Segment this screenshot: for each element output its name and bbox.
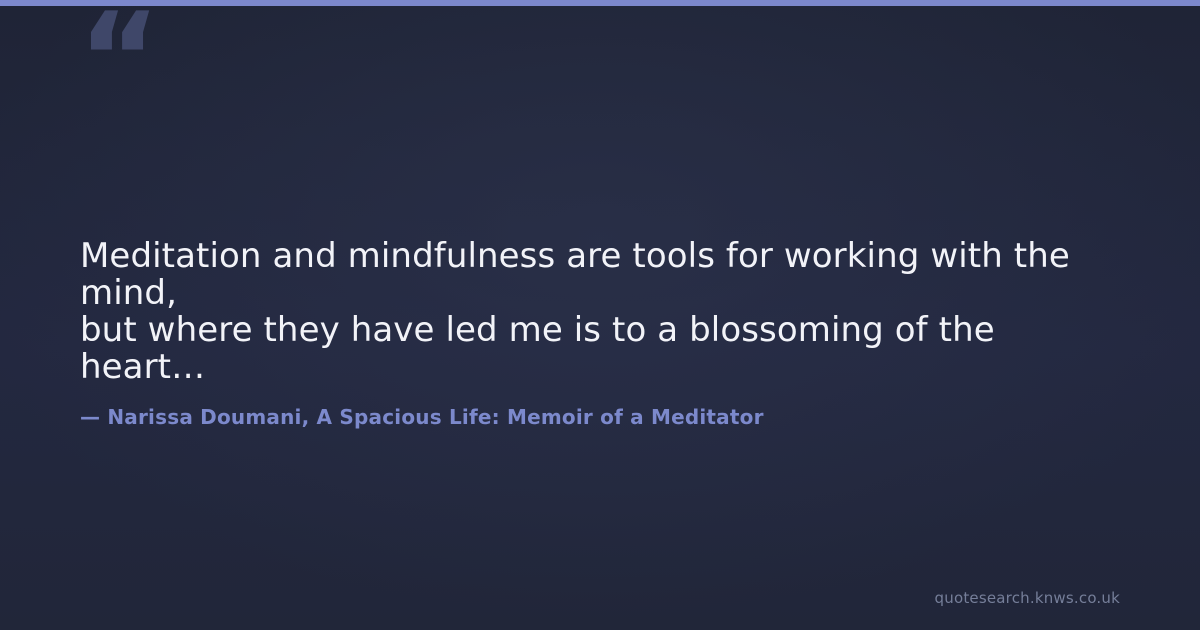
quote-card: “ Meditation and mindfulness are tools f… — [0, 0, 1200, 630]
site-watermark: quotesearch.knws.co.uk — [935, 589, 1120, 607]
top-accent-bar — [0, 0, 1200, 6]
quote-text: Meditation and mindfulness are tools for… — [80, 238, 1128, 386]
open-quote-icon: “ — [78, 0, 159, 122]
quote-attribution: — Narissa Doumani, A Spacious Life: Memo… — [80, 404, 1128, 430]
quote-content: Meditation and mindfulness are tools for… — [80, 238, 1128, 430]
